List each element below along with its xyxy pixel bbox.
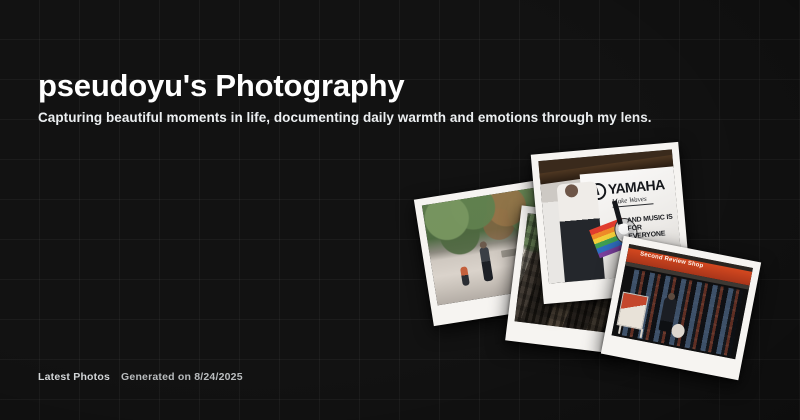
page-title: pseudoyu's Photography (38, 69, 404, 103)
page-subtitle: Capturing beautiful moments in life, doc… (38, 110, 652, 125)
street-child-figure (460, 266, 470, 286)
street-adult-figure (480, 246, 494, 281)
photography-cover-canvas: pseudoyu's Photography Capturing beautif… (0, 0, 800, 420)
footer-bar: Latest Photos Generated on 8/24/2025 (38, 371, 243, 383)
footer-generated-date: Generated on 8/24/2025 (121, 371, 243, 383)
footer-section-label: Latest Photos (38, 371, 110, 383)
photo-shop-front[interactable]: Second Review Shop (601, 236, 761, 381)
photo-stack[interactable]: YAMAHA Make Waves AND MUSIC IS FOR EVERY… (415, 140, 755, 365)
photo-shop-front-frame: Second Review Shop (612, 244, 753, 359)
photo-shop-front-image: Second Review Shop (612, 244, 753, 359)
